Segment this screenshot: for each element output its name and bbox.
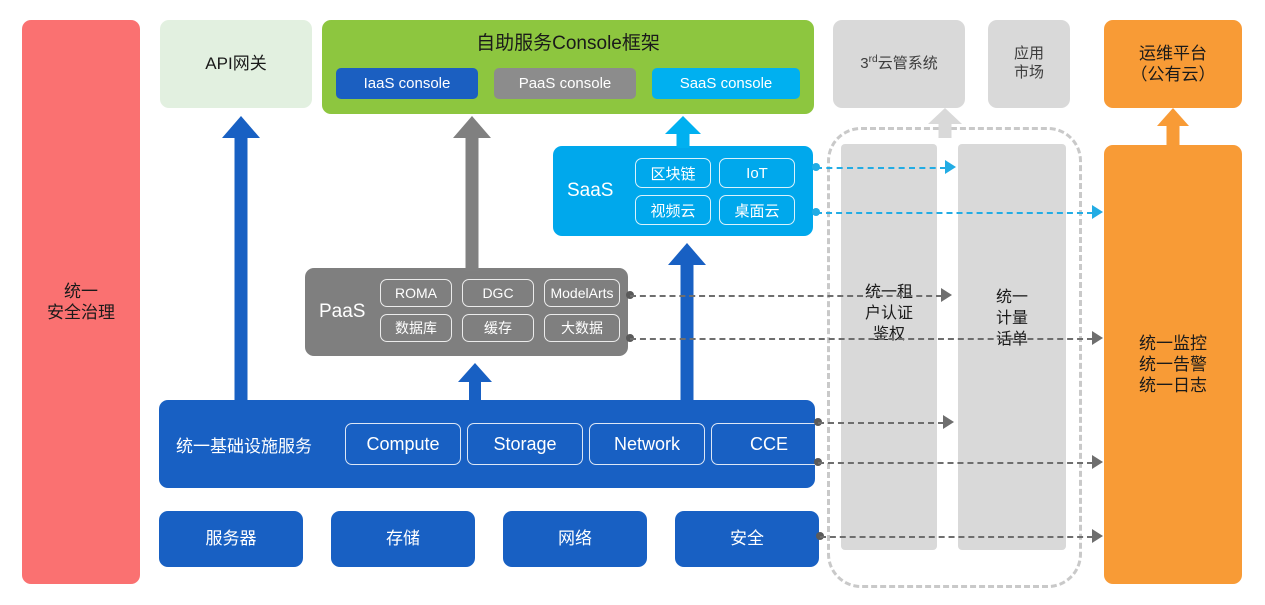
- infra-item-storage[interactable]: Storage: [467, 423, 583, 465]
- connector-infra-to-ops-platform: [818, 462, 1093, 464]
- infra-layer-label: 统一基础设施服务: [176, 400, 312, 488]
- infra-item-cce[interactable]: CCE: [711, 423, 827, 465]
- third-party-cloud-management-box: 3rd云管系统: [833, 20, 965, 108]
- connector-paas-to-tenant-auth: [630, 295, 942, 297]
- app-market-line-1: 应用: [1014, 45, 1044, 64]
- arrow-to-third-party-cloud: [927, 108, 963, 138]
- unified-infrastructure-services-box: 统一基础设施服务 Compute Storage Network CCE: [159, 400, 815, 488]
- tenant-auth-column: [841, 144, 937, 550]
- saas-item-video-cloud[interactable]: 视频云: [635, 195, 711, 225]
- ops-platform-line-1: 运维平台: [1139, 43, 1207, 64]
- security-line-1: 统一: [64, 281, 98, 302]
- infra-item-compute[interactable]: Compute: [345, 423, 461, 465]
- saas-item-desktop-cloud[interactable]: 桌面云: [719, 195, 795, 225]
- metering-label: 统一 计量 话单: [958, 288, 1066, 350]
- connector-arrowhead-saas-2: [1092, 205, 1103, 219]
- paas-item-database[interactable]: 数据库: [380, 314, 452, 342]
- ops-platform-line-2: （公有云）: [1131, 64, 1216, 85]
- paas-item-bigdata[interactable]: 大数据: [544, 314, 620, 342]
- tenant-auth-line-2: 户认证: [841, 304, 937, 325]
- api-gateway-label: API网关: [205, 53, 266, 74]
- hardware-item-server[interactable]: 服务器: [159, 511, 303, 567]
- connector-arrowhead-hardware: [1092, 529, 1103, 543]
- tenant-auth-line-3: 鉴权: [841, 325, 937, 346]
- connector-arrowhead-infra-2: [1092, 455, 1103, 469]
- arrow-infra-to-saas: [668, 243, 706, 402]
- console-framework-title: 自助服务Console框架: [322, 28, 814, 55]
- tenant-auth-label: 统一租 户认证 鉴权: [841, 283, 937, 345]
- unified-security-governance-panel: 统一 安全治理: [22, 20, 140, 584]
- connector-infra-to-tenant-auth: [818, 422, 944, 424]
- hardware-item-network[interactable]: 网络: [503, 511, 647, 567]
- infra-item-network[interactable]: Network: [589, 423, 705, 465]
- paas-item-dgc[interactable]: DGC: [462, 279, 534, 307]
- arrow-saas-to-console: [665, 116, 701, 148]
- paas-console-chip[interactable]: PaaS console: [494, 68, 636, 99]
- app-market-line-2: 市场: [1014, 64, 1044, 83]
- saas-console-chip[interactable]: SaaS console: [652, 68, 800, 99]
- hardware-item-storage[interactable]: 存储: [331, 511, 475, 567]
- connector-arrowhead-paas-2: [1092, 331, 1103, 345]
- connector-paas-to-ops-platform: [630, 338, 1093, 340]
- monitoring-line-2: 统一告警: [1139, 354, 1207, 375]
- metering-line-2: 计量: [958, 309, 1066, 330]
- arrow-infra-to-api-gateway: [222, 116, 260, 402]
- iaas-console-chip[interactable]: IaaS console: [336, 68, 478, 99]
- arrow-to-ops-platform: [1157, 108, 1189, 146]
- metering-line-1: 统一: [958, 288, 1066, 309]
- third-cloud-label: 3rd云管系统: [860, 54, 937, 74]
- paas-item-roma[interactable]: ROMA: [380, 279, 452, 307]
- ops-platform-box: 运维平台 （公有云）: [1104, 20, 1242, 108]
- connector-arrowhead-infra-1: [943, 415, 954, 429]
- paas-layer-box: PaaS ROMA DGC ModelArts 数据库 缓存 大数据: [305, 268, 628, 356]
- hardware-item-security[interactable]: 安全: [675, 511, 819, 567]
- arrow-infra-to-paas: [458, 363, 492, 403]
- architecture-diagram: 统一 安全治理 API网关 自助服务Console框架 IaaS console…: [0, 0, 1265, 605]
- saas-layer-box: SaaS 区块链 IoT 视频云 桌面云: [553, 146, 813, 236]
- paas-layer-label: PaaS: [319, 268, 365, 356]
- self-service-console-framework: 自助服务Console框架 IaaS console PaaS console …: [322, 20, 814, 114]
- saas-layer-label: SaaS: [567, 146, 613, 236]
- arrow-paas-to-console: [453, 116, 491, 271]
- connector-arrowhead-paas-1: [941, 288, 952, 302]
- connector-saas-to-tenant-auth: [816, 167, 946, 169]
- unified-monitoring-panel: 统一监控 统一告警 统一日志: [1104, 145, 1242, 584]
- monitoring-line-3: 统一日志: [1139, 375, 1207, 396]
- paas-item-modelarts[interactable]: ModelArts: [544, 279, 620, 307]
- app-market-box: 应用 市场: [988, 20, 1070, 108]
- tenant-auth-line-1: 统一租: [841, 283, 937, 304]
- api-gateway-box: API网关: [160, 20, 312, 108]
- paas-item-cache[interactable]: 缓存: [462, 314, 534, 342]
- connector-saas-to-ops-platform: [816, 212, 1093, 214]
- saas-item-iot[interactable]: IoT: [719, 158, 795, 188]
- saas-item-blockchain[interactable]: 区块链: [635, 158, 711, 188]
- security-line-2: 安全治理: [47, 302, 115, 323]
- monitoring-line-1: 统一监控: [1139, 333, 1207, 354]
- connector-arrowhead-saas-1: [945, 160, 956, 174]
- connector-hardware-to-ops-platform: [820, 536, 1093, 538]
